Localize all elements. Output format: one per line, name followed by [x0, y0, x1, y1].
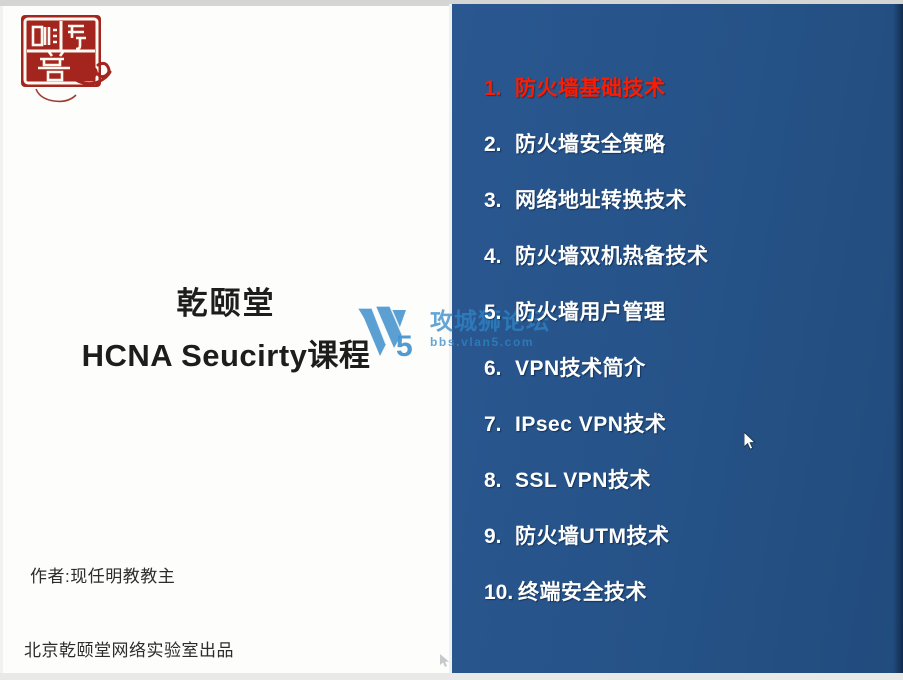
agenda-item-2[interactable]: 2. 防火墙安全策略 [484, 128, 884, 184]
agenda-label: VPN技术简介 [515, 352, 646, 382]
agenda-item-4[interactable]: 4. 防火墙双机热备技术 [484, 240, 884, 296]
agenda-number: 10. [484, 581, 518, 605]
agenda-number: 6. [484, 357, 515, 381]
agenda-number: 1. [484, 77, 515, 101]
agenda-label: 网络地址转换技术 [515, 184, 687, 214]
page-title-chinese: 乾颐堂 [0, 286, 452, 322]
qiantang-seal-logo [14, 10, 120, 108]
agenda-label: 防火墙安全策略 [515, 128, 666, 158]
agenda-label: 防火墙用户管理 [515, 296, 666, 326]
page-title-course: HCNA Seucirty课程 [0, 338, 452, 374]
agenda-number: 5. [484, 301, 515, 325]
producer-line: 北京乾颐堂网络实验室出品 [24, 636, 234, 661]
mouse-cursor-icon [744, 432, 758, 452]
agenda-label: IPsec VPN技术 [515, 408, 666, 438]
agenda-list: 1. 防火墙基础技术 2. 防火墙安全策略 3. 网络地址转换技术 4. 防火墙… [484, 72, 884, 632]
agenda-label: SSL VPN技术 [515, 464, 651, 494]
agenda-label: 防火墙基础技术 [515, 72, 666, 102]
agenda-number: 9. [484, 525, 515, 549]
agenda-number: 2. [484, 133, 515, 157]
agenda-item-5[interactable]: 5. 防火墙用户管理 [484, 296, 884, 352]
agenda-number: 7. [484, 413, 515, 437]
agenda-label: 防火墙双机热备技术 [515, 240, 709, 270]
agenda-label: 防火墙UTM技术 [515, 520, 670, 550]
agenda-number: 4. [484, 245, 515, 269]
bottom-letterbox-strip [0, 673, 903, 680]
agenda-item-10[interactable]: 10. 终端安全技术 [484, 576, 884, 632]
presentation-slide: 乾颐堂 HCNA Seucirty课程 作者:现任明教教主 北京乾颐堂网络实验室… [0, 0, 903, 680]
agenda-item-7[interactable]: 7. IPsec VPN技术 [484, 408, 884, 464]
agenda-item-3[interactable]: 3. 网络地址转换技术 [484, 184, 884, 240]
agenda-item-8[interactable]: 8. SSL VPN技术 [484, 464, 884, 520]
agenda-label: 终端安全技术 [518, 576, 647, 606]
agenda-item-9[interactable]: 9. 防火墙UTM技术 [484, 520, 884, 576]
agenda-item-6[interactable]: 6. VPN技术简介 [484, 352, 884, 408]
agenda-number: 8. [484, 469, 515, 493]
author-line: 作者:现任明教教主 [30, 562, 175, 587]
seam-marker-icon [439, 653, 453, 669]
agenda-number: 3. [484, 189, 515, 213]
agenda-item-1[interactable]: 1. 防火墙基础技术 [484, 72, 884, 128]
slide-title-block: 乾颐堂 HCNA Seucirty课程 [0, 286, 452, 373]
